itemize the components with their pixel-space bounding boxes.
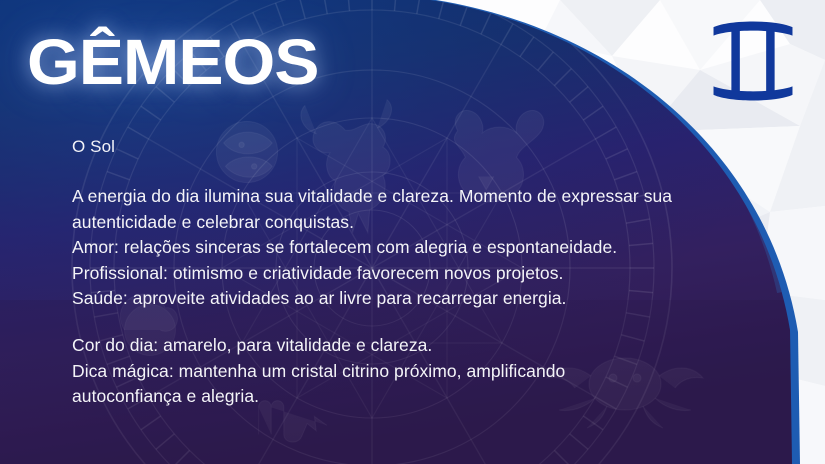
- card-content: GÊMEOS O Sol A energia do dia ilumina su…: [0, 0, 825, 464]
- reading-line: Amor: relações sinceras se fortalecem co…: [72, 235, 712, 261]
- reading-line: A energia do dia ilumina sua vitalidade …: [72, 184, 712, 210]
- gemini-symbol-icon: [706, 14, 800, 108]
- reading-primary-block: A energia do dia ilumina sua vitalidade …: [72, 184, 712, 312]
- reading-line: Saúde: aproveite atividades ao ar livre …: [72, 286, 712, 312]
- ruling-body-label: O Sol: [72, 137, 115, 157]
- reading-line: Cor do dia: amarelo, para vitalidade e c…: [72, 333, 712, 359]
- reading-line: autoconfiança e alegria.: [72, 384, 712, 410]
- reading-line: autenticidade e celebrar conquistas.: [72, 210, 712, 236]
- reading-line: Profissional: otimismo e criatividade fa…: [72, 261, 712, 287]
- reading-line: Dica mágica: mantenha um cristal citrino…: [72, 359, 712, 385]
- horoscope-card: GÊMEOS O Sol A energia do dia ilumina su…: [0, 0, 825, 464]
- page-title: GÊMEOS: [27, 30, 318, 94]
- reading-secondary-block: Cor do dia: amarelo, para vitalidade e c…: [72, 333, 712, 410]
